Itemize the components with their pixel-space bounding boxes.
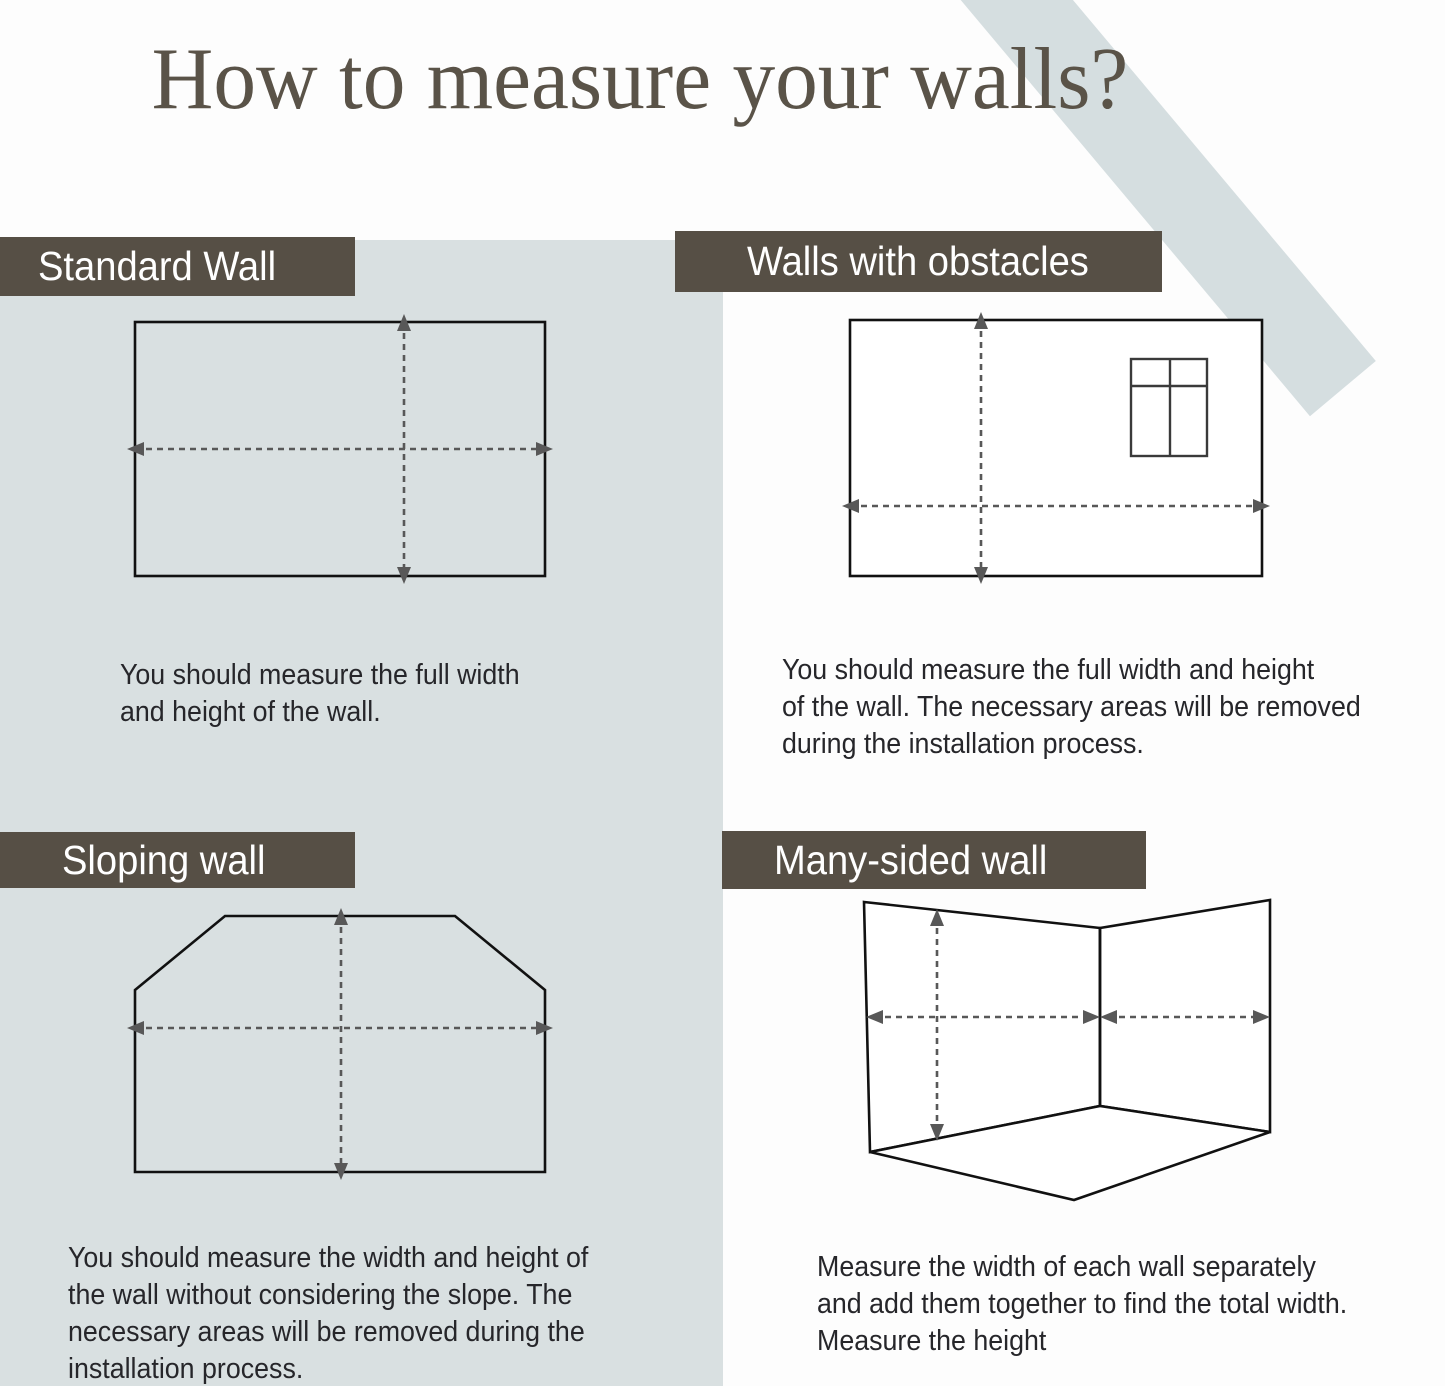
section-heading-walls-with-obstacles-label: Walls with obstacles xyxy=(747,241,1089,282)
diagram-walls-with-obstacles xyxy=(820,300,1320,600)
section-heading-sloping-wall: Sloping wall xyxy=(0,832,355,888)
diagram-many-sided-wall xyxy=(840,890,1320,1220)
caption-sloping-wall: You should measure the width and height … xyxy=(68,1203,668,1386)
caption-standard-wall: You should measure the full width and he… xyxy=(120,620,680,768)
section-heading-walls-with-obstacles: Walls with obstacles xyxy=(675,231,1162,292)
section-heading-many-sided-wall-label: Many-sided wall xyxy=(774,840,1047,881)
section-heading-many-sided-wall: Many-sided wall xyxy=(722,831,1146,889)
caption-many-sided-wall: Measure the width of each wall separatel… xyxy=(817,1212,1427,1386)
section-heading-standard-wall: Standard Wall xyxy=(0,237,355,296)
diagram-sloping-wall xyxy=(100,895,580,1195)
diagram-standard-wall xyxy=(100,300,580,600)
section-heading-standard-wall-label: Standard Wall xyxy=(38,246,276,287)
caption-walls-with-obstacles: You should measure the full width and he… xyxy=(782,615,1422,800)
infographic-page: How to measure your walls? Standard Wall… xyxy=(0,0,1445,1386)
page-title: How to measure your walls? xyxy=(19,36,1261,124)
section-heading-sloping-wall-label: Sloping wall xyxy=(62,840,265,881)
